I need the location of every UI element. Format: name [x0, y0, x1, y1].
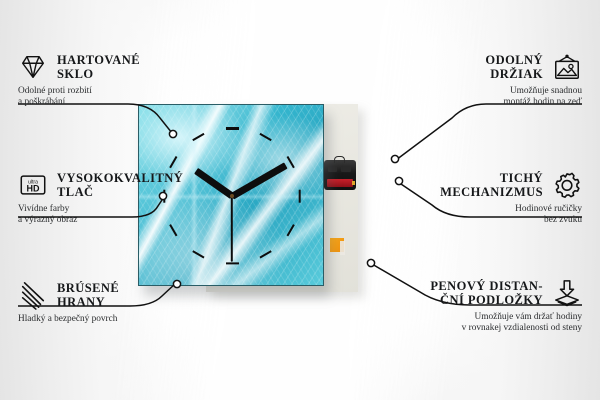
feature-mechanism: TICHÝ MECHANIZMUS Hodinové ručičky bez z…	[377, 170, 582, 227]
feature-glass: HARTOVANÉ SKLO Odolné proti rozbití a po…	[18, 52, 223, 109]
connector-marker-glass	[169, 130, 176, 137]
feature-glass-subtitle: Odolné proti rozbití a poškrábání	[18, 82, 223, 109]
connector-marker-holder	[391, 155, 398, 162]
feature-glass-head: HARTOVANÉ SKLO	[18, 52, 223, 82]
feature-mechanism-head: TICHÝ MECHANIZMUS	[377, 170, 582, 200]
ground-edges-icon	[18, 280, 48, 310]
feature-holder-title: ODOLNÝ DRŽIAK	[485, 53, 543, 81]
feature-print-subtitle: Vivídne farby a výrazný obraz	[18, 200, 223, 227]
feature-print-title: VYSOKOKVALITNÝ TLAČ	[57, 171, 183, 199]
feature-mechanism-subtitle: Hodinové ručičky bez zvuku	[377, 200, 582, 227]
feature-edges-subtitle: Hladký a bezpečný povrch	[18, 310, 223, 325]
feature-foam-subtitle: Umožňuje vám držať hodiny v rovnakej vzd…	[377, 308, 582, 335]
connector-holder	[396, 104, 582, 160]
feature-foam: PENOVÝ DISTAN- ČNÍ PODLOŽKY Umožňuje vám…	[377, 278, 582, 335]
feature-mechanism-title: TICHÝ MECHANIZMUS	[440, 171, 543, 199]
feature-glass-title: HARTOVANÉ SKLO	[57, 53, 140, 81]
picture-hanger-icon	[552, 52, 582, 82]
gear-icon	[552, 170, 582, 200]
feature-holder-head: ODOLNÝ DRŽIAK	[377, 52, 582, 82]
infographic-canvas: HARTOVANÉ SKLO Odolné proti rozbití a po…	[0, 0, 600, 400]
feature-foam-head: PENOVÝ DISTAN- ČNÍ PODLOŽKY	[377, 278, 582, 308]
feature-edges: BRÚSENÉ HRANY Hladký a bezpečný povrch	[18, 280, 223, 325]
foam-spacer-icon	[552, 278, 582, 308]
feature-edges-head: BRÚSENÉ HRANY	[18, 280, 223, 310]
ultra-hd-icon: ultra HD	[18, 170, 48, 200]
feature-holder-subtitle: Umožňuje snadnou montáž hodin na zeď	[377, 82, 582, 109]
svg-text:HD: HD	[27, 184, 40, 194]
feature-print: ultra HD VYSOKOKVALITNÝ TLAČ Vivídne far…	[18, 170, 223, 227]
feature-foam-title: PENOVÝ DISTAN- ČNÍ PODLOŽKY	[430, 279, 543, 307]
feature-print-head: ultra HD VYSOKOKVALITNÝ TLAČ	[18, 170, 223, 200]
feature-edges-title: BRÚSENÉ HRANY	[57, 281, 119, 309]
feature-holder: ODOLNÝ DRŽIAK Umožňuje snadnou montáž ho…	[377, 52, 582, 109]
diamond-icon	[18, 52, 48, 82]
connector-marker-foam	[367, 259, 374, 266]
